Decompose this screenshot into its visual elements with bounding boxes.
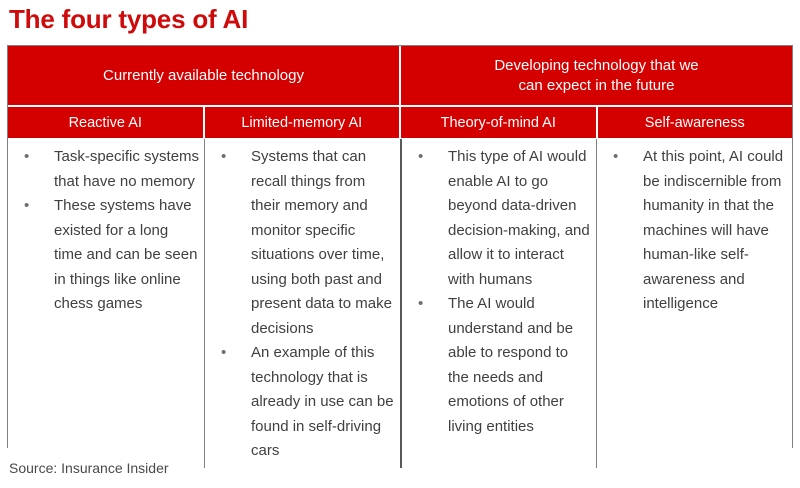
list-item: • These systems have existed for a long … [12, 194, 200, 317]
bullet-dot-icon: • [221, 145, 231, 170]
page-title: The four types of AI [9, 2, 248, 36]
bullet-list-reactive-ai: • Task-specific systems that have no mem… [12, 145, 200, 317]
column-header-limited-memory-ai: Limited-memory AI [205, 107, 400, 138]
column-header-row: Reactive AI Limited-memory AI Theory-of-… [8, 107, 792, 138]
column-header-theory-of-mind-ai: Theory-of-mind AI [401, 107, 596, 138]
column-header-reactive-ai: Reactive AI [8, 107, 203, 138]
list-item: • An example of this technology that is … [209, 341, 396, 464]
body-cell-limited-memory-ai: • Systems that can recall things from th… [204, 139, 400, 468]
infographic-root: The four types of AI Currently available… [0, 0, 800, 488]
body-cell-reactive-ai: • Task-specific systems that have no mem… [8, 139, 204, 468]
list-item: • Systems that can recall things from th… [209, 145, 396, 341]
bullet-dot-icon: • [221, 341, 231, 366]
list-item-text: Task-specific systems that have no memor… [54, 148, 199, 190]
group-header-developing: Developing technology that we can expect… [401, 46, 792, 105]
bullet-dot-icon: • [418, 145, 428, 170]
four-types-of-ai-table: Currently available technology Developin… [7, 45, 793, 448]
body-cell-self-awareness: • At this point, AI could be indiscernib… [596, 139, 792, 468]
body-cell-theory-of-mind-ai: • This type of AI would enable AI to go … [400, 139, 596, 468]
bullet-dot-icon: • [24, 145, 34, 170]
bullet-dot-icon: • [24, 194, 34, 219]
list-item-text: The AI would understand and be able to r… [448, 295, 573, 435]
bullet-dot-icon: • [418, 292, 428, 317]
list-item: • The AI would understand and be able to… [406, 292, 592, 439]
list-item: • Task-specific systems that have no mem… [12, 145, 200, 194]
bullet-list-theory-of-mind-ai: • This type of AI would enable AI to go … [406, 145, 592, 439]
bullet-list-self-awareness: • At this point, AI could be indiscernib… [601, 145, 788, 317]
bullet-list-limited-memory-ai: • Systems that can recall things from th… [209, 145, 396, 464]
table-body-row: • Task-specific systems that have no mem… [8, 138, 792, 468]
list-item: • This type of AI would enable AI to go … [406, 145, 592, 292]
group-header-currently-available: Currently available technology [8, 46, 399, 105]
bullet-dot-icon: • [613, 145, 623, 170]
group-header-row: Currently available technology Developin… [8, 46, 792, 105]
column-header-self-awareness: Self-awareness [598, 107, 793, 138]
list-item-text: An example of this technology that is al… [251, 344, 394, 459]
source-caption: Source: Insurance Insider [9, 459, 169, 477]
list-item-text: This type of AI would enable AI to go be… [448, 148, 590, 288]
list-item-text: Systems that can recall things from thei… [251, 148, 392, 337]
list-item: • At this point, AI could be indiscernib… [601, 145, 788, 317]
list-item-text: These systems have existed for a long ti… [54, 197, 197, 312]
list-item-text: At this point, AI could be indiscernible… [643, 148, 783, 312]
